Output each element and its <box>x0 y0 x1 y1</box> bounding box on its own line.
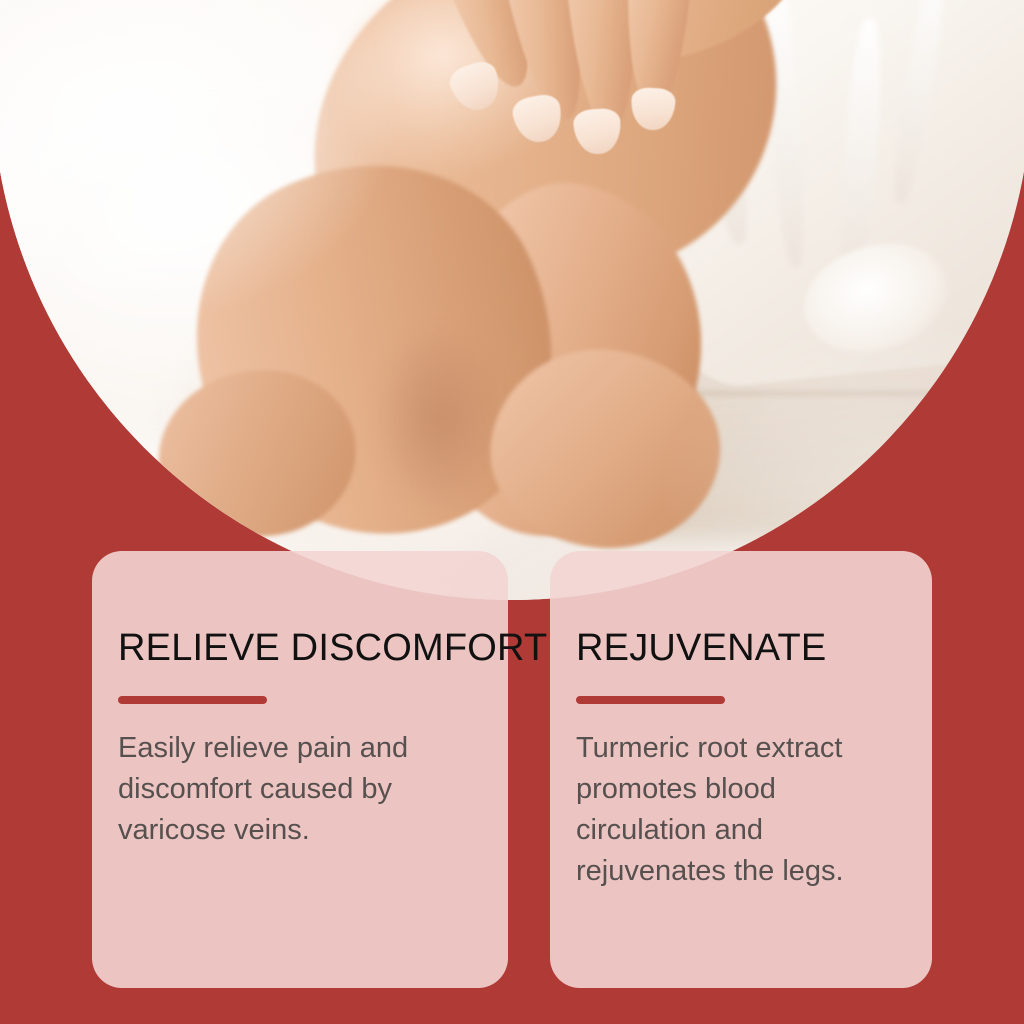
card-title: RELIEVE DISCOMFORT <box>118 629 547 667</box>
card-divider <box>576 696 725 704</box>
card-body-text: Turmeric root extract promotes blood cir… <box>576 728 896 892</box>
feature-card-rejuvenate: REJUVENATE Turmeric root extract promote… <box>550 551 932 988</box>
ankle-shadow <box>377 330 502 507</box>
card-body-text: Easily relieve pain and discomfort cause… <box>118 728 448 851</box>
feature-card-relieve-discomfort: RELIEVE DISCOMFORT Easily relieve pain a… <box>92 551 508 988</box>
card-title: REJUVENATE <box>576 629 826 667</box>
promo-poster: RELIEVE DISCOMFORT Easily relieve pain a… <box>0 0 1024 1024</box>
card-divider <box>118 696 267 704</box>
hero-image-circle <box>0 0 1024 600</box>
